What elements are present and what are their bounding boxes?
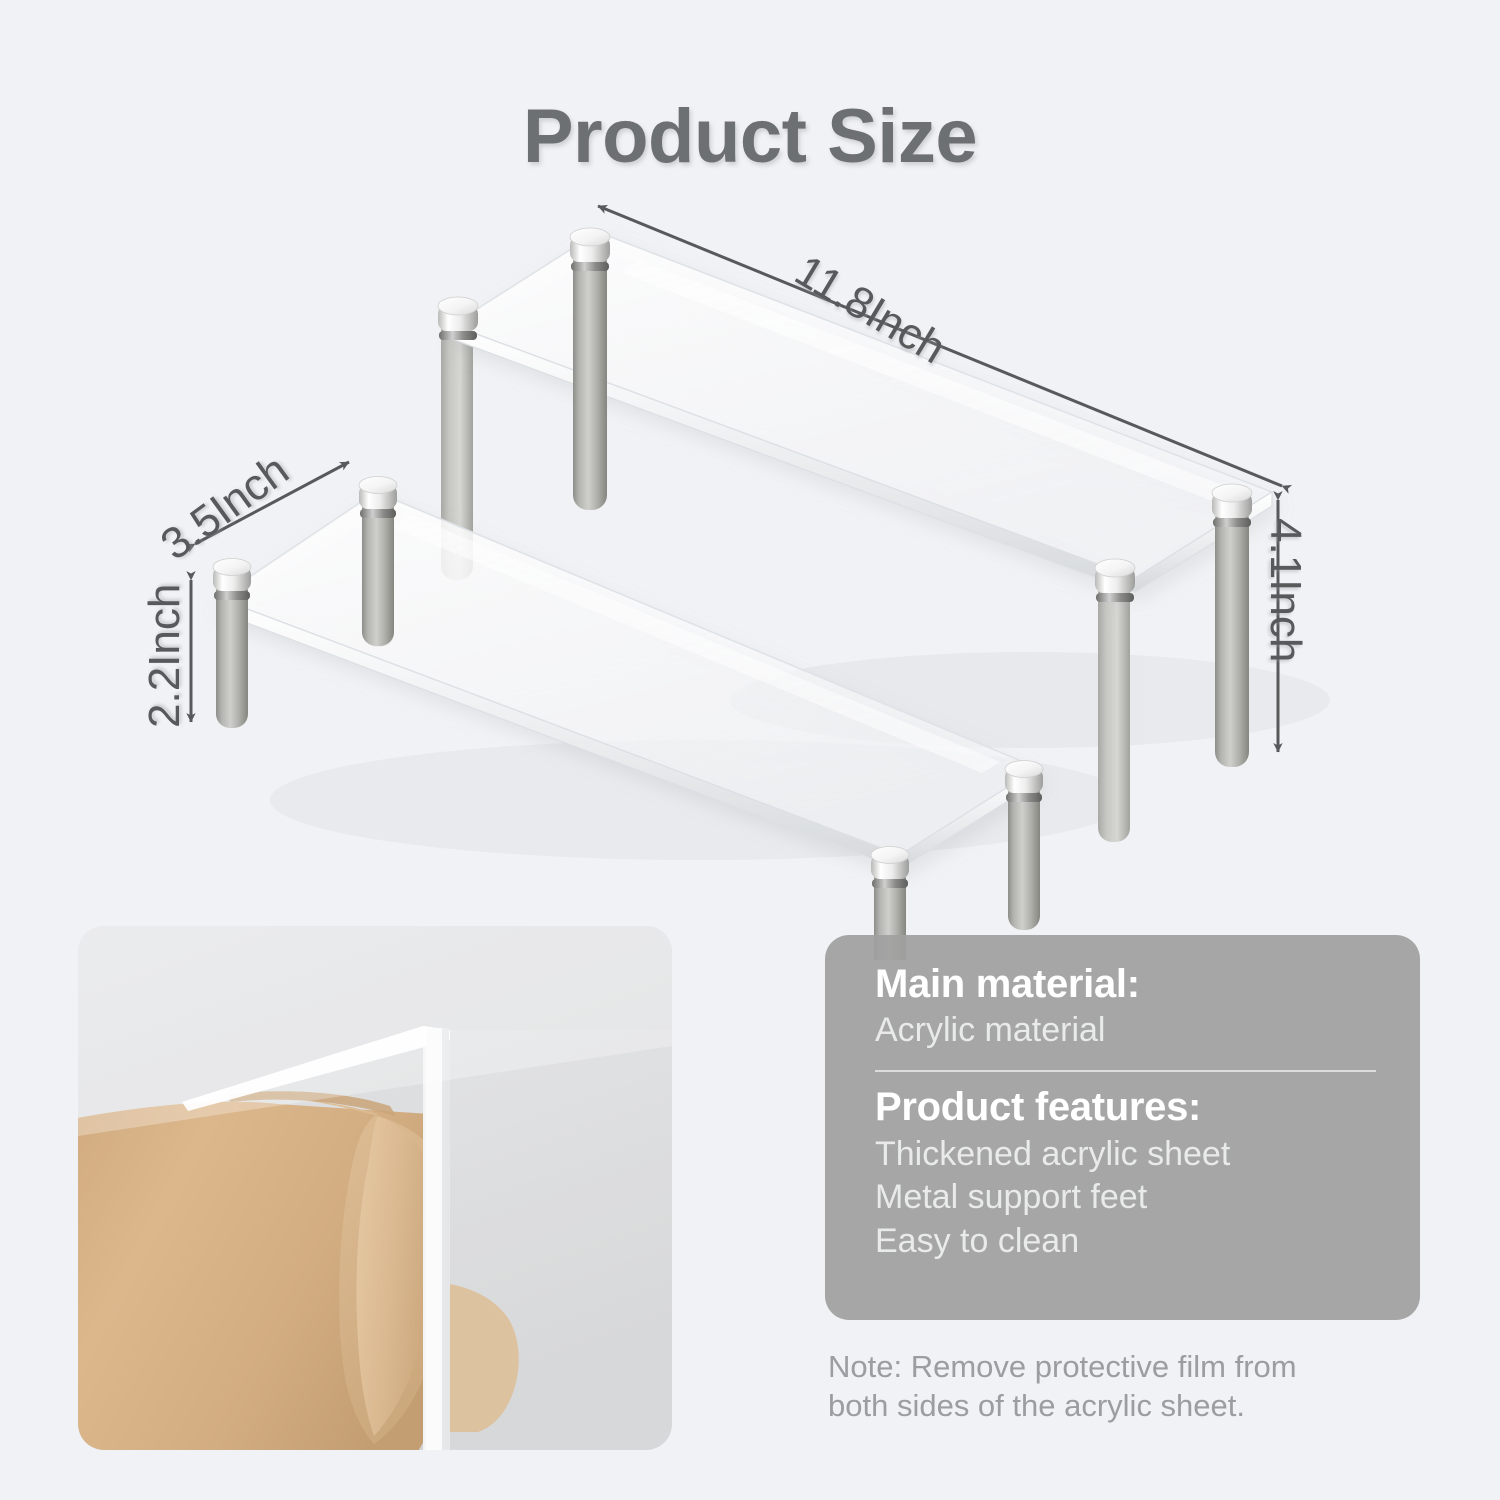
info-divider — [875, 1070, 1376, 1072]
leg-cap — [1212, 484, 1252, 527]
dimension-label-total-height: 4.1Inch — [1260, 518, 1310, 662]
product-features-list: Thickened acrylic sheet Metal support fe… — [875, 1133, 1384, 1264]
upper-shelf-leg-back-left-cap — [438, 297, 478, 340]
leg-cap — [438, 297, 478, 340]
dimension-label-lower-height: 2.2Inch — [140, 584, 190, 728]
leg-cap — [570, 228, 610, 271]
upper-shelf-leg-front-left — [570, 228, 610, 510]
protective-film-photo — [78, 926, 672, 1450]
product-features-heading: Product features: — [875, 1086, 1384, 1129]
feature-item: Thickened acrylic sheet — [875, 1133, 1384, 1177]
feature-item: Easy to clean — [875, 1220, 1384, 1264]
lower-shelf-leg-front-left — [359, 477, 397, 647]
leg-cap — [871, 847, 909, 889]
infographic-canvas: Product Size — [0, 0, 1500, 1500]
main-material-heading: Main material: — [875, 963, 1384, 1006]
upper-shelf-leg-front-right — [1212, 484, 1252, 767]
upper-shelf-leg-back-right — [1098, 580, 1130, 842]
feature-item: Metal support feet — [875, 1176, 1384, 1220]
leg-cap — [359, 477, 397, 519]
leg-cap — [1095, 559, 1135, 602]
protective-film-note: Note: Remove protective film from both s… — [828, 1348, 1428, 1426]
product-info-panel: Main material: Acrylic material Product … — [825, 935, 1420, 1320]
lower-shelf-leg-back-left-cap — [213, 559, 251, 729]
leg-cap — [1005, 761, 1043, 803]
note-line-2: both sides of the acrylic sheet. — [828, 1387, 1428, 1426]
lower-shelf-leg-front-right — [1005, 761, 1043, 931]
upper-shelf-leg-back-right-cap — [1095, 559, 1135, 602]
note-line-1: Note: Remove protective film from — [828, 1348, 1428, 1387]
leg-cap — [213, 559, 251, 601]
main-material-value: Acrylic material — [875, 1010, 1384, 1051]
